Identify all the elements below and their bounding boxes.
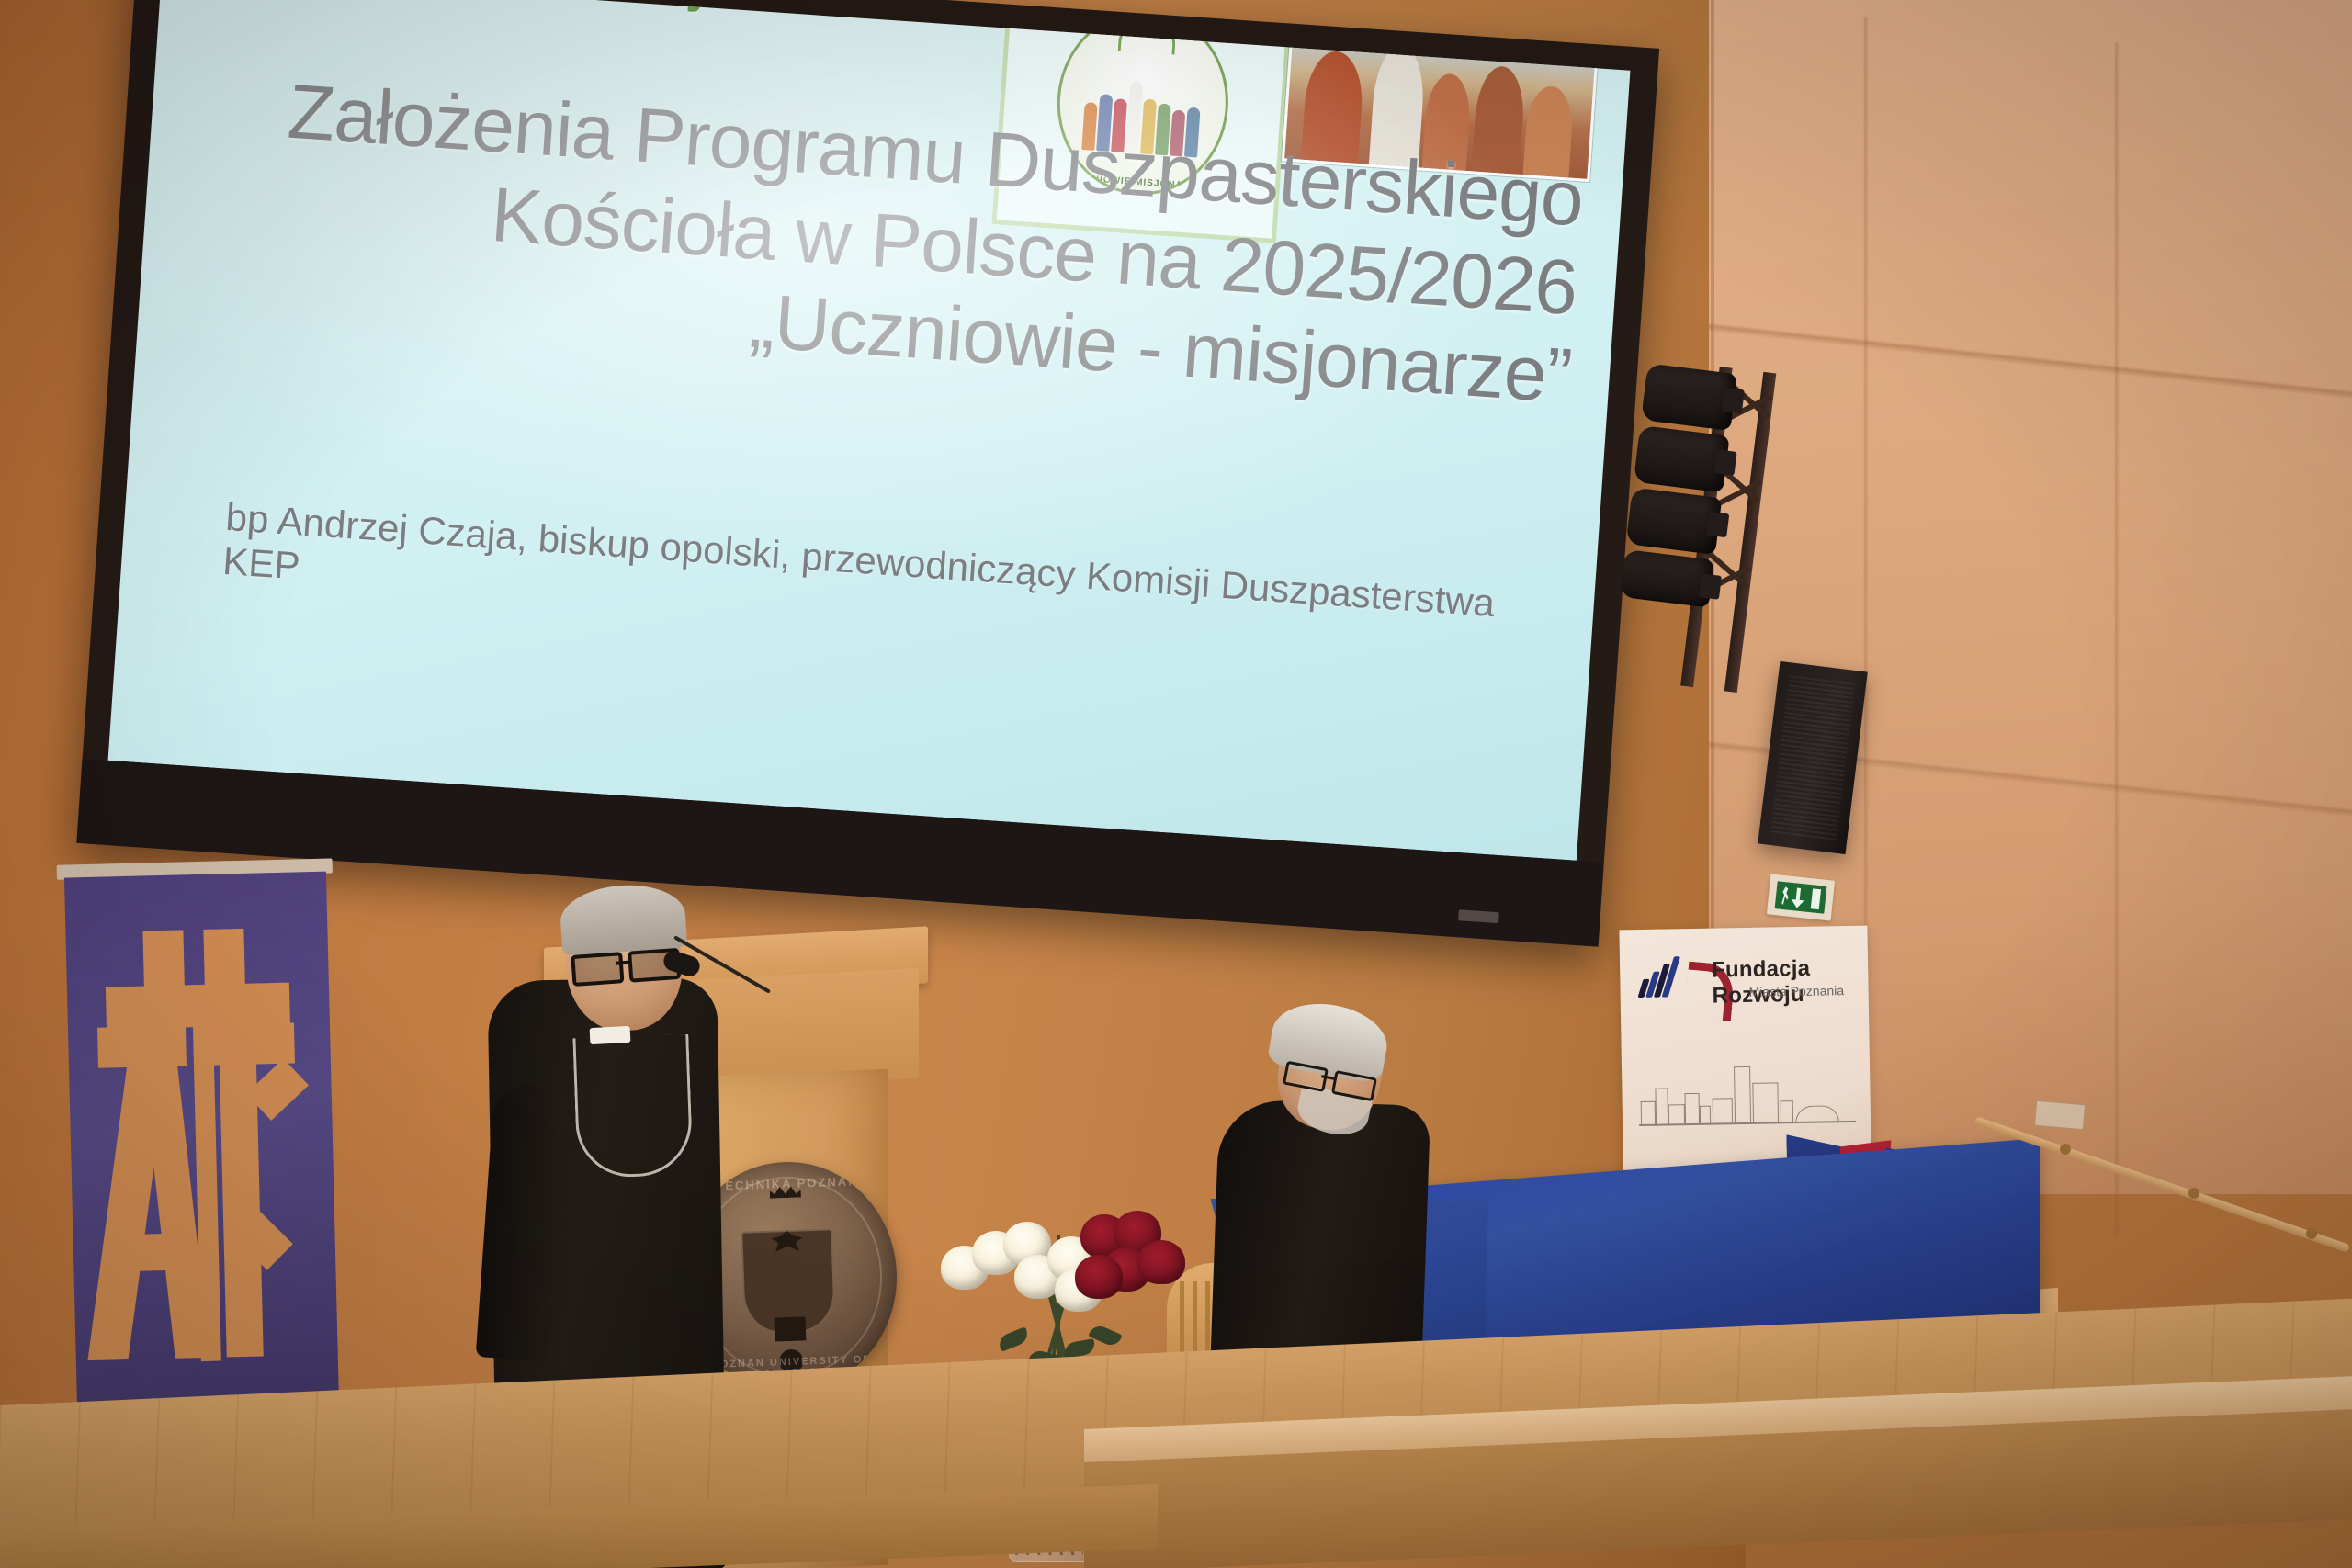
screen-brand-mark xyxy=(1458,909,1499,923)
conference-photo: misjonarze UCZNIOWIE MISJONARZE xyxy=(0,0,2352,1568)
handrail xyxy=(1975,1116,2352,1263)
stage-light-icon xyxy=(1634,425,1730,492)
hair xyxy=(559,881,688,955)
stage-light-icon xyxy=(1641,363,1737,430)
projection-screen: misjonarze UCZNIOWIE MISJONARZE xyxy=(76,0,1659,947)
pectoral-cross-cord xyxy=(572,1034,693,1179)
slide-green-heading: misjonarze xyxy=(593,0,888,26)
fundacja-mark-icon xyxy=(1640,953,1705,998)
emergency-exit-icon xyxy=(1767,874,1835,920)
ak-logo-icon xyxy=(95,927,307,1363)
slide-surface: misjonarze UCZNIOWIE MISJONARZE xyxy=(108,0,1631,861)
rose-red xyxy=(1137,1240,1185,1284)
sprout-icon xyxy=(1118,17,1177,54)
poznan-skyline-icon xyxy=(1638,1055,1856,1126)
stage-light-icon xyxy=(1625,487,1722,554)
rose-red xyxy=(1075,1255,1123,1299)
fundacja-subtitle: Miasta Poznania xyxy=(1748,983,1844,999)
fundacja-title: Fundacja Rozwoju xyxy=(1712,955,1869,1010)
slide-author-line: bp Andrzej Czaja, biskup opolski, przewo… xyxy=(221,495,1529,671)
